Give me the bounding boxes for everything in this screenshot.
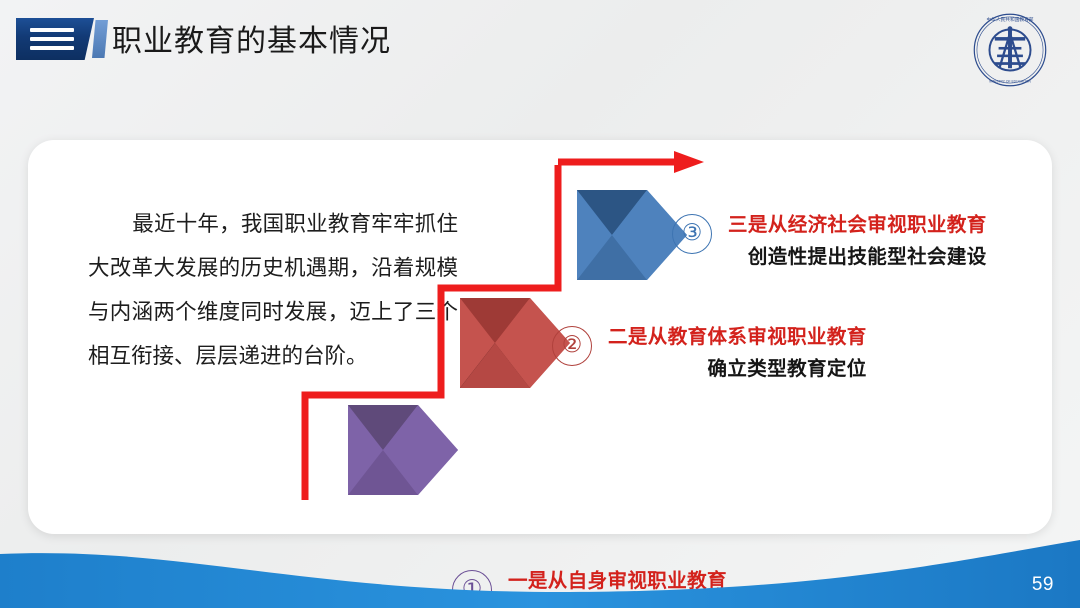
- step-number-3: ③: [672, 214, 712, 254]
- step-title-2: 二是从教育体系审视职业教育: [608, 320, 867, 349]
- intro-paragraph: 最近十年，我国职业教育牢牢抓住大改革大发展的历史机遇期，沿着规模与内涵两个维度同…: [88, 202, 458, 378]
- footer-wave: [0, 530, 1080, 608]
- badge-accent-sliver: [92, 20, 108, 58]
- svg-text:MINISTRY OF EDUCATION: MINISTRY OF EDUCATION: [989, 80, 1031, 84]
- intro-paragraph-text: 最近十年，我国职业教育牢牢抓住大改革大发展的历史机遇期，沿着规模与内涵两个维度同…: [88, 212, 458, 368]
- step-number-2: ②: [552, 326, 592, 366]
- step-subtitle-3: 创造性提出技能型社会建设: [728, 240, 987, 269]
- page-number: 59: [1032, 574, 1054, 596]
- slide-header: 职业教育的基本情况 中华人民共和国教育部 MINISTRY OF EDUCATI…: [0, 0, 1080, 110]
- content-card: 最近十年，我国职业教育牢牢抓住大改革大发展的历史机遇期，沿着规模与内涵两个维度同…: [28, 140, 1052, 534]
- section-number-badge: [16, 18, 94, 60]
- three-bars-icon: [30, 28, 74, 50]
- ministry-of-education-seal-icon: 中华人民共和国教育部 MINISTRY OF EDUCATION: [972, 12, 1048, 88]
- step-title-3: 三是从经济社会审视职业教育: [728, 208, 987, 237]
- svg-text:中华人民共和国教育部: 中华人民共和国教育部: [986, 16, 1033, 23]
- step-chevron-1: [348, 405, 458, 495]
- step-chevron-3: [577, 190, 687, 280]
- step-subtitle-2: 确立类型教育定位: [608, 352, 867, 381]
- page-title: 职业教育的基本情况: [112, 16, 391, 60]
